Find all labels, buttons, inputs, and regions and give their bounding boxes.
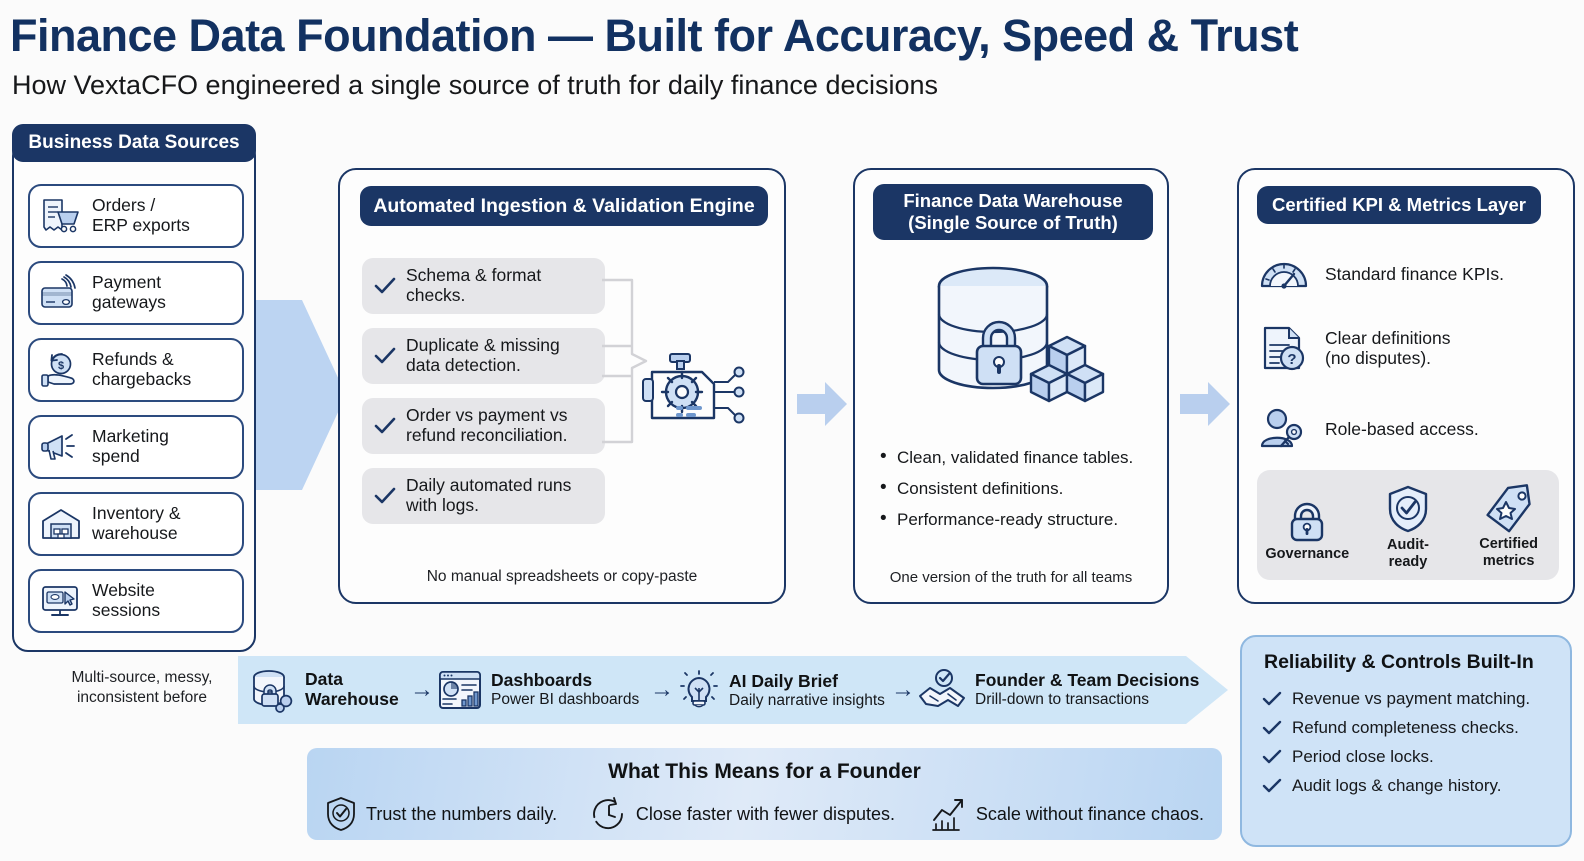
ingestion-check-label: Duplicate & missingdata detection.	[406, 336, 560, 376]
flow-step-data-warehouse[interactable]: DataWarehouse	[250, 668, 399, 712]
reliability-item: Revenue vs payment matching.	[1262, 689, 1530, 709]
kpi-chip-label: Governance	[1261, 546, 1353, 563]
warehouse-bullets: Clean, validated finance tables. Consist…	[877, 448, 1157, 541]
kpi-feature-role-based-access: Role-based access.	[1259, 408, 1479, 450]
kpi-chip-label: Audit-ready	[1362, 537, 1454, 571]
flow-step-dashboards[interactable]: Dashboards Power BI dashboards	[438, 670, 639, 710]
reliability-item: Refund completeness checks.	[1262, 718, 1530, 738]
kpi-chip-row: Governance Audit-ready	[1257, 470, 1559, 580]
warehouse-icon	[38, 504, 84, 544]
padlock-icon	[1261, 494, 1353, 542]
ingestion-check-label: Schema & formatchecks.	[406, 266, 541, 306]
database-lock-gear-icon	[250, 668, 296, 712]
reliability-item-label: Period close locks.	[1292, 747, 1434, 767]
ingestion-note: No manual spreadsheets or copy-paste	[340, 568, 784, 586]
flow-step-text: Founder & Team Decisions Drill-down to t…	[975, 671, 1199, 709]
founder-summary-banner: What This Means for a Founder Trust the …	[307, 748, 1222, 840]
warehouse-bullet: Consistent definitions.	[877, 479, 1157, 499]
kpi-feature-label: Role-based access.	[1325, 419, 1479, 439]
source-item-label: Website sessions	[92, 581, 160, 620]
check-icon	[374, 347, 396, 365]
user-key-icon	[1259, 408, 1309, 450]
engine-gear-circuit-icon	[640, 352, 752, 438]
database-lock-cubes-icon	[923, 262, 1103, 412]
finance-data-warehouse-panel: Finance Data Warehouse(Single Source of …	[853, 168, 1169, 604]
founder-benefit-close-faster: Close faster with fewer disputes.	[593, 796, 895, 832]
ingestion-check-label: Daily automated runswith logs.	[406, 476, 571, 516]
dashboard-report-icon	[438, 670, 482, 710]
source-item-website-sessions[interactable]: Website sessions	[28, 569, 244, 633]
source-item-label: Refunds & chargebacks	[92, 350, 191, 389]
flow-step-text: Dashboards Power BI dashboards	[491, 671, 639, 709]
ingestion-check-item[interactable]: Order vs payment vsrefund reconciliation…	[362, 398, 605, 454]
business-data-sources-panel: Orders / ERP exports	[12, 140, 256, 652]
flow-step-text: AI Daily Brief Daily narrative insights	[729, 672, 885, 710]
kpi-feature-label: Standard finance KPIs.	[1325, 264, 1504, 284]
ingestion-check-label: Order vs payment vsrefund reconciliation…	[406, 406, 567, 446]
warehouse-bullet: Performance-ready structure.	[877, 510, 1157, 530]
flow-arrow-1: →	[410, 676, 434, 704]
warehouse-panel-badge: Finance Data Warehouse(Single Source of …	[873, 184, 1153, 240]
founder-banner-title: What This Means for a Founder	[307, 760, 1222, 784]
check-icon	[374, 417, 396, 435]
sources-panel-badge: Business Data Sources	[12, 124, 256, 162]
flow-arrow-3: →	[891, 676, 915, 704]
growth-chart-icon	[931, 796, 967, 832]
ingestion-check-item[interactable]: Duplicate & missingdata detection.	[362, 328, 605, 384]
reliability-item: Period close locks.	[1262, 747, 1530, 767]
gauge-icon	[1259, 254, 1309, 294]
kpi-chip-certified-metrics[interactable]: Certifiedmetrics	[1463, 486, 1555, 570]
reliability-title: Reliability & Controls Built-In	[1264, 651, 1534, 674]
credit-card-contactless-icon	[38, 273, 84, 313]
page-subtitle: How VextaCFO engineered a single source …	[12, 70, 938, 101]
reliability-list: Revenue vs payment matching. Refund comp…	[1262, 689, 1530, 805]
kpi-chip-audit-ready[interactable]: Audit-ready	[1362, 485, 1454, 571]
value-flow-band: DataWarehouse →	[238, 656, 1228, 724]
founder-benefit-scale: Scale without finance chaos.	[931, 796, 1204, 832]
ingestion-check-item[interactable]: Daily automated runswith logs.	[362, 468, 605, 524]
flow-arrow-2: →	[650, 676, 674, 704]
document-question-icon: ?	[1259, 325, 1309, 371]
kpi-chip-governance[interactable]: Governance	[1261, 494, 1353, 563]
founder-benefit-list: Trust the numbers daily. Close faster wi…	[325, 796, 1204, 832]
certified-kpi-layer-panel: Certified KPI & Metrics Layer Standard f…	[1237, 168, 1575, 604]
source-item-label: Inventory & warehouse	[92, 504, 181, 543]
flow-step-founder-decisions[interactable]: Founder & Team Decisions Drill-down to t…	[918, 668, 1199, 712]
tag-star-icon	[1463, 486, 1555, 532]
founder-benefit-label: Close faster with fewer disputes.	[636, 804, 895, 825]
kpi-feature-label: Clear definitions(no disputes).	[1325, 328, 1450, 369]
ingestion-engine-panel: Automated Ingestion & Validation Engine …	[338, 168, 786, 604]
kpi-feature-standard-kpis: Standard finance KPIs.	[1259, 254, 1504, 294]
clock-refresh-icon	[593, 796, 627, 832]
source-item-label: Orders / ERP exports	[92, 196, 190, 235]
svg-text:?: ?	[1287, 351, 1296, 368]
warehouse-note: One version of the truth for all teams	[855, 569, 1167, 586]
svg-text:$: $	[58, 360, 64, 372]
reliability-controls-panel: Reliability & Controls Built-In Revenue …	[1240, 635, 1572, 847]
sources-caption: Multi-source, messy, inconsistent before	[52, 668, 232, 708]
sources-to-engine-arrow	[250, 300, 346, 490]
check-icon	[374, 277, 396, 295]
reliability-item-label: Revenue vs payment matching.	[1292, 689, 1530, 709]
source-item-payment-gateways[interactable]: Payment gateways	[28, 261, 244, 325]
check-icon	[1262, 749, 1282, 765]
source-item-orders[interactable]: Orders / ERP exports	[28, 184, 244, 248]
source-item-label: Marketing spend	[92, 427, 169, 466]
ingestion-panel-badge: Automated Ingestion & Validation Engine	[360, 186, 768, 226]
check-icon	[1262, 720, 1282, 736]
source-item-refunds[interactable]: $ Refunds & chargebacks	[28, 338, 244, 402]
flow-step-title: DataWarehouse	[305, 670, 399, 710]
source-item-marketing-spend[interactable]: Marketing spend	[28, 415, 244, 479]
receipt-cart-icon	[38, 196, 84, 236]
kpi-chip-label: Certifiedmetrics	[1463, 536, 1555, 570]
source-item-inventory[interactable]: Inventory & warehouse	[28, 492, 244, 556]
handshake-check-icon	[918, 668, 966, 712]
ingestion-checklist: Schema & formatchecks. Duplicate & missi…	[362, 258, 605, 538]
ingestion-to-warehouse-arrow	[797, 378, 849, 430]
source-item-label: Payment gateways	[92, 273, 166, 312]
reliability-item-label: Refund completeness checks.	[1292, 718, 1519, 738]
founder-benefit-label: Trust the numbers daily.	[366, 804, 557, 825]
warehouse-bullet: Clean, validated finance tables.	[877, 448, 1157, 468]
kpi-panel-badge: Certified KPI & Metrics Layer	[1257, 186, 1541, 224]
megaphone-icon	[38, 427, 84, 467]
lightbulb-icon	[678, 670, 720, 712]
shield-check-icon	[1362, 485, 1454, 533]
page-title: Finance Data Foundation — Built for Accu…	[10, 10, 1298, 62]
check-icon	[374, 487, 396, 505]
reliability-item: Audit logs & change history.	[1262, 776, 1530, 796]
refund-hand-coin-icon: $	[38, 350, 84, 390]
sources-list: Orders / ERP exports	[28, 184, 244, 646]
check-icon	[1262, 778, 1282, 794]
kpi-feature-clear-definitions: ? Clear definitions(no disputes).	[1259, 325, 1450, 371]
founder-benefit-trust: Trust the numbers daily.	[325, 796, 557, 832]
reliability-item-label: Audit logs & change history.	[1292, 776, 1501, 796]
monitor-cursor-icon	[38, 581, 84, 621]
founder-benefit-label: Scale without finance chaos.	[976, 804, 1204, 825]
infographic-canvas: Finance Data Foundation — Built for Accu…	[0, 0, 1584, 861]
warehouse-to-kpi-arrow	[1180, 378, 1232, 430]
ingestion-check-item[interactable]: Schema & formatchecks.	[362, 258, 605, 314]
shield-check-icon	[325, 796, 357, 832]
check-icon	[1262, 691, 1282, 707]
flow-step-ai-daily-brief[interactable]: AI Daily Brief Daily narrative insights	[678, 670, 885, 712]
